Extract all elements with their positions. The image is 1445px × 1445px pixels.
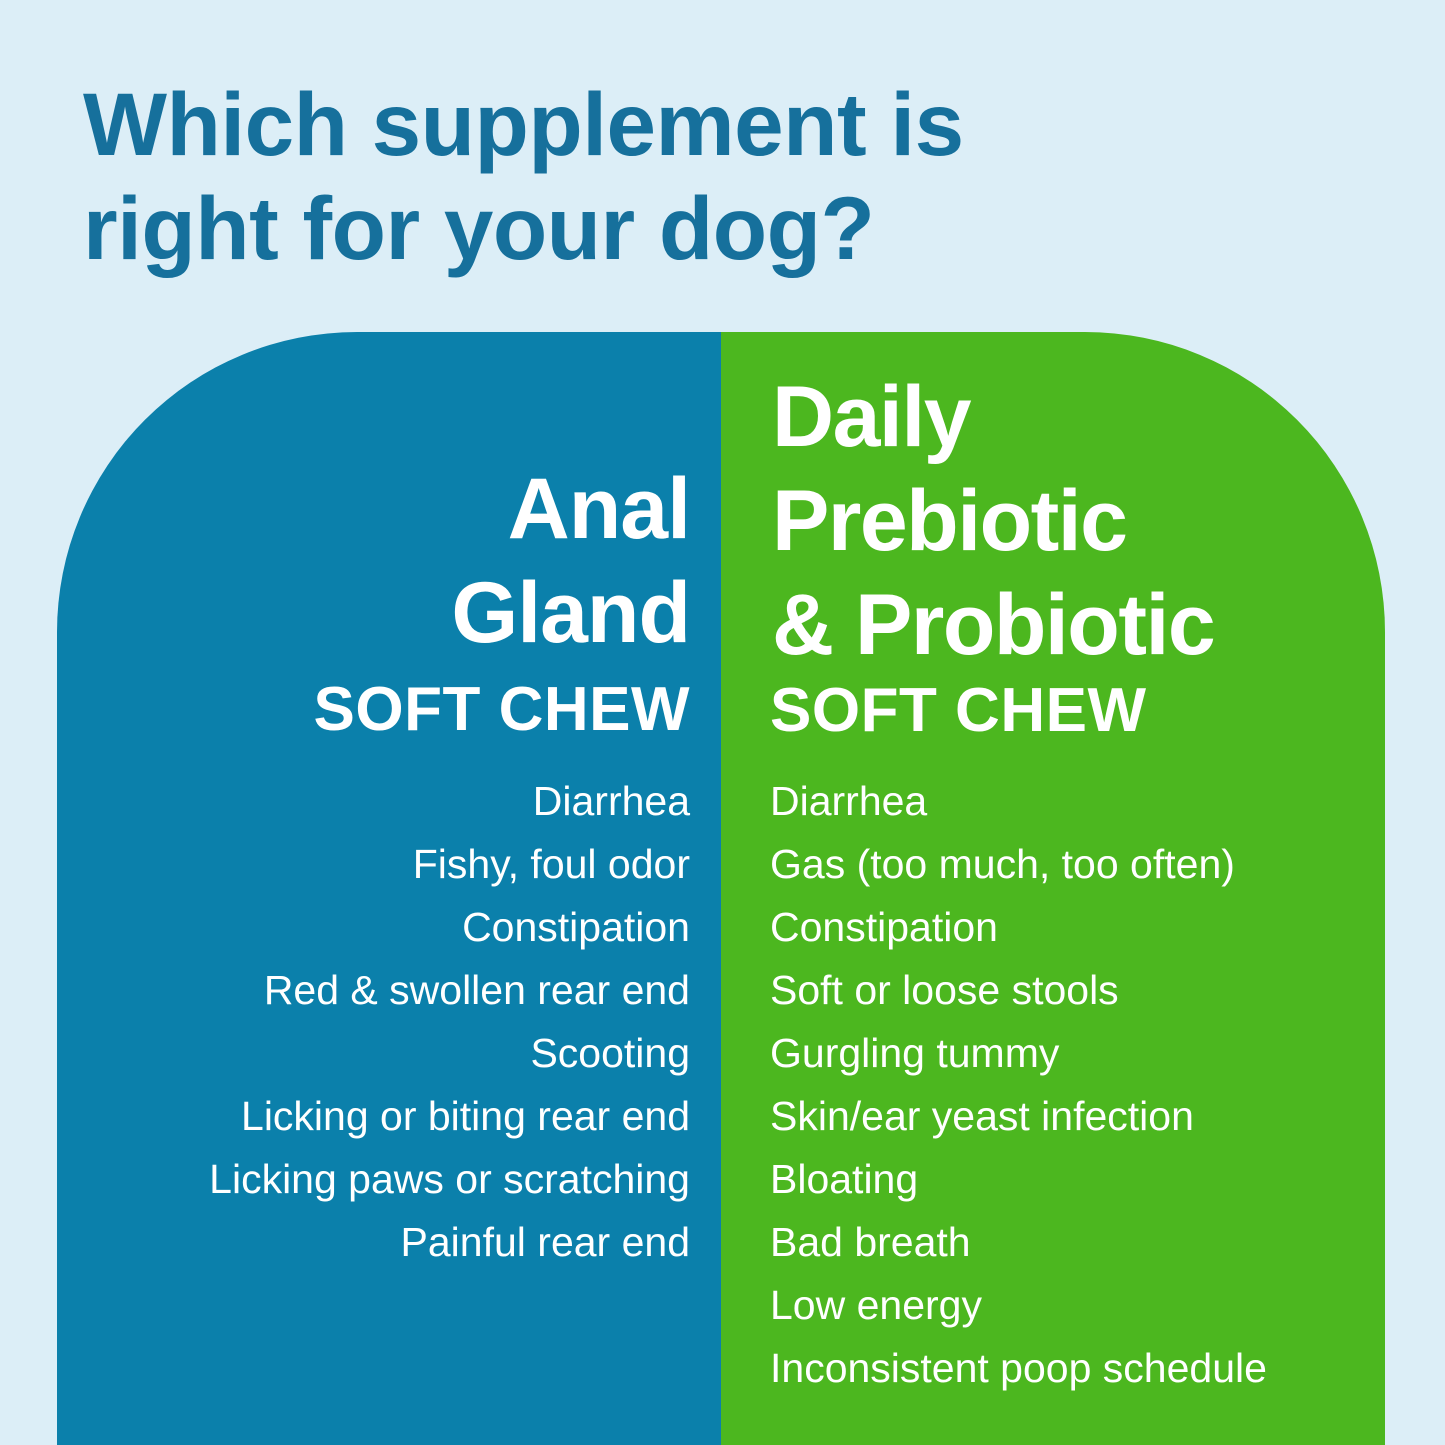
symptom-item: Licking or biting rear end bbox=[70, 1085, 690, 1148]
symptom-item: Inconsistent poop schedule bbox=[770, 1337, 1385, 1400]
symptom-item: Red & swollen rear end bbox=[70, 959, 690, 1022]
symptom-list-anal-gland: DiarrheaFishy, foul odorConstipationRed … bbox=[70, 770, 690, 1274]
panel-title-anal-gland: Anal Gland bbox=[130, 457, 690, 665]
symptom-item: Skin/ear yeast infection bbox=[770, 1085, 1385, 1148]
symptom-item: Constipation bbox=[770, 896, 1385, 959]
symptom-item: Bad breath bbox=[770, 1211, 1385, 1274]
symptom-item: Scooting bbox=[70, 1022, 690, 1085]
symptom-item: Licking paws or scratching bbox=[70, 1148, 690, 1211]
symptom-item: Gurgling tummy bbox=[770, 1022, 1385, 1085]
symptom-item: Painful rear end bbox=[70, 1211, 690, 1274]
symptom-item: Constipation bbox=[70, 896, 690, 959]
panel-title-prebiotic-probiotic: Daily Prebiotic & Probiotic bbox=[772, 365, 1372, 677]
panel-anal-gland: Anal Gland SOFT CHEW DiarrheaFishy, foul… bbox=[57, 332, 722, 1445]
symptom-item: Gas (too much, too often) bbox=[770, 833, 1385, 896]
symptom-item: Bloating bbox=[770, 1148, 1385, 1211]
panel-subtitle-anal-gland: SOFT CHEW bbox=[130, 674, 690, 745]
symptom-item: Diarrhea bbox=[70, 770, 690, 833]
symptom-item: Low energy bbox=[770, 1274, 1385, 1337]
panel-prebiotic-probiotic: Daily Prebiotic & Probiotic SOFT CHEW Di… bbox=[721, 332, 1385, 1445]
page-title: Which supplement is right for your dog? bbox=[83, 72, 1263, 280]
panel-subtitle-prebiotic-probiotic: SOFT CHEW bbox=[770, 675, 1370, 746]
symptom-item: Soft or loose stools bbox=[770, 959, 1385, 1022]
symptom-item: Diarrhea bbox=[770, 770, 1385, 833]
symptom-list-prebiotic-probiotic: DiarrheaGas (too much, too often)Constip… bbox=[770, 770, 1385, 1400]
symptom-item: Fishy, foul odor bbox=[70, 833, 690, 896]
infographic-canvas: Which supplement is right for your dog? … bbox=[0, 0, 1445, 1445]
